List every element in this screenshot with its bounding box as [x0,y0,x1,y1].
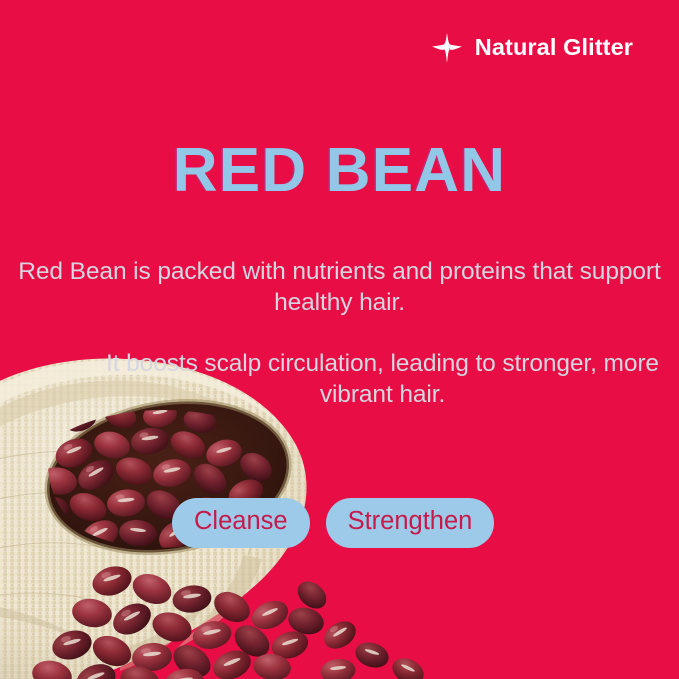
benefit-tag-list: Cleanse Strengthen [172,498,494,548]
description-paragraph-2: It boosts scalp circulation, leading to … [0,348,679,411]
description-block: Red Bean is packed with nutrients and pr… [0,256,679,410]
sparkle-icon [432,33,462,63]
brand-name: Natural Glitter [475,36,633,60]
benefit-tag-strengthen[interactable]: Strengthen [326,498,495,548]
brand-logo: Natural Glitter [432,33,633,63]
benefit-tag-cleanse[interactable]: Cleanse [172,498,310,548]
page-title-text: RED BEAN [173,140,506,202]
spilled-bean-pile [30,562,428,679]
description-paragraph-1: Red Bean is packed with nutrients and pr… [0,256,679,319]
page-title: RED BEAN [0,140,679,202]
scattered-beans [292,576,428,679]
red-bean-ingredient-card: Natural Glitter RED BEAN Red Bean is pac… [0,0,679,679]
